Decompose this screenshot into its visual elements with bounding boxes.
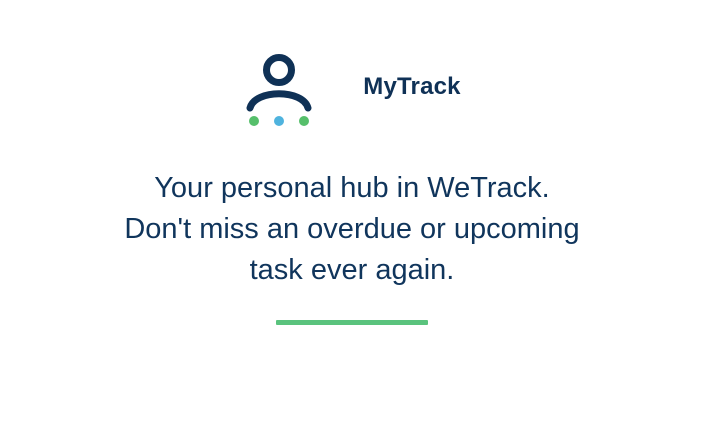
dot-right-icon <box>299 116 309 126</box>
person-icon <box>243 52 315 128</box>
brand-wordmark: MyTrack <box>363 75 460 99</box>
brand-row: MyTrack <box>0 52 704 128</box>
headline-line-3: task ever again. <box>0 250 704 291</box>
divider-container <box>0 320 704 325</box>
green-divider <box>276 320 428 325</box>
headline-line-1: Your personal hub in WeTrack. <box>0 168 704 209</box>
dot-left-icon <box>249 116 259 126</box>
mytrack-intro-screen: MyTrack Your personal hub in WeTrack. Do… <box>0 0 704 421</box>
headline: Your personal hub in WeTrack. Don't miss… <box>0 168 704 291</box>
dot-center-icon <box>274 116 284 126</box>
headline-line-2: Don't miss an overdue or upcoming <box>0 209 704 250</box>
